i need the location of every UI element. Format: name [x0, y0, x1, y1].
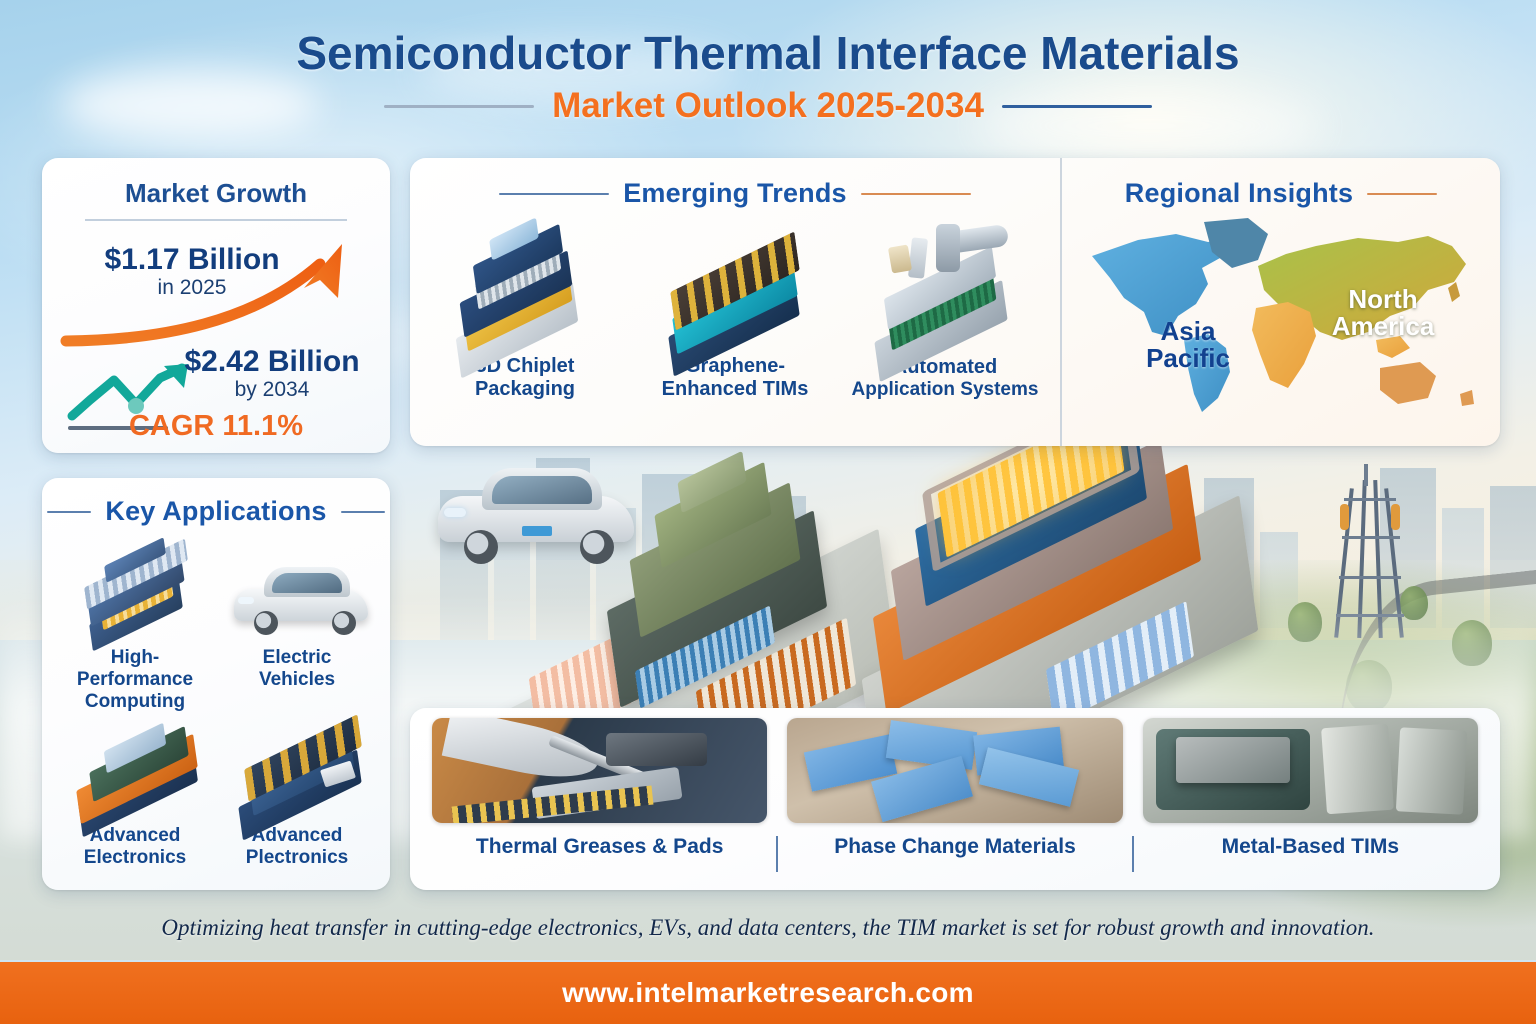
emerging-trends-list: 3D Chiplet Packaging Graphene- Enhanced … — [410, 215, 1060, 401]
product-label: Thermal Greases & Pads — [432, 835, 767, 859]
key-applications-panel: Key Applications High-Performance Comput… — [42, 478, 390, 890]
regional-insights-section: Regional Insights — [1060, 158, 1500, 446]
metal-tim-photo — [1143, 718, 1478, 823]
footer-url[interactable]: www.intelmarketresearch.com — [562, 977, 974, 1009]
footer-tagline: Optimizing heat transfer in cutting-edge… — [0, 915, 1536, 941]
application-item[interactable]: Advanced Plectronics — [218, 719, 376, 869]
application-label-line2: Electronics — [56, 847, 214, 869]
car-illustration — [430, 456, 640, 566]
emerging-trends-title: Emerging Trends — [623, 178, 847, 209]
page-subtitle: Market Outlook 2025-2034 — [552, 86, 984, 126]
subtitle-rule-left — [384, 105, 534, 108]
product-types-panel: Thermal Greases & Pads Phase Change Mate… — [410, 708, 1500, 890]
trend-label-line2: Enhanced TIMs — [640, 378, 830, 401]
region-label-asia-pacific: Asia Pacific — [1118, 318, 1258, 373]
cagr-value: CAGR 11.1% — [42, 410, 390, 443]
trend-item[interactable]: Automated Application Systems — [850, 222, 1040, 401]
product-label: Phase Change Materials — [787, 835, 1122, 859]
value-2025: $1.17 Billion — [64, 244, 320, 276]
key-applications-title: Key Applications — [105, 496, 326, 527]
value-2025-note: in 2025 — [64, 276, 320, 299]
application-label-line2: Computing — [56, 691, 214, 713]
graphene-sheet-icon — [640, 221, 830, 351]
product-label: Metal-Based TIMs — [1143, 835, 1478, 859]
rule-left — [499, 193, 609, 195]
subtitle-row: Market Outlook 2025-2034 — [0, 86, 1536, 126]
trend-label-line2: Packaging — [430, 378, 620, 401]
robot-dispenser-icon — [850, 222, 1040, 352]
application-label-line2: Plectronics — [218, 847, 376, 869]
world-map: North America Asia Pacific — [1080, 212, 1510, 422]
rule-right — [861, 193, 971, 195]
rule-left — [47, 511, 91, 513]
trends-and-regional-panel: Emerging Trends 3D Chiplet Packaging — [410, 158, 1500, 446]
application-label-line1: Advanced — [56, 825, 214, 847]
product-item[interactable]: Phase Change Materials — [777, 718, 1132, 859]
hero-chip-illustration — [430, 430, 1510, 730]
product-item[interactable]: Metal-Based TIMs — [1133, 718, 1488, 859]
market-growth-title: Market Growth — [42, 178, 390, 209]
divider — [85, 219, 347, 221]
value-2034-note: by 2034 — [154, 378, 390, 401]
application-label-line1: High-Performance — [56, 647, 214, 691]
pcb-module-icon — [56, 719, 214, 819]
value-2034: $2.42 Billion — [154, 346, 390, 378]
application-label-line1: Electric — [218, 647, 376, 669]
product-types-list: Thermal Greases & Pads Phase Change Mate… — [410, 708, 1500, 859]
regional-insights-heading: Regional Insights — [1062, 178, 1500, 209]
region-label-north-america: North America — [1308, 286, 1458, 341]
trend-label-line1: Graphene- — [640, 355, 830, 378]
subtitle-rule-right — [1002, 105, 1152, 108]
chip-stack-icon — [430, 221, 620, 351]
grease-dispenser-photo — [432, 718, 767, 823]
emerging-trends-heading: Emerging Trends — [410, 178, 1060, 209]
emerging-trends-section: Emerging Trends 3D Chiplet Packaging — [410, 158, 1060, 446]
rule-right — [341, 511, 385, 513]
server-chip-icon — [56, 545, 214, 641]
page-title: Semiconductor Thermal Interface Material… — [0, 26, 1536, 80]
application-item[interactable]: Electric Vehicles — [218, 545, 376, 713]
header: Semiconductor Thermal Interface Material… — [0, 0, 1536, 126]
regional-insights-title: Regional Insights — [1125, 178, 1353, 209]
application-item[interactable]: Advanced Electronics — [56, 719, 214, 869]
key-applications-heading: Key Applications — [42, 496, 390, 527]
trend-label-line2: Application Systems — [850, 379, 1040, 401]
product-item[interactable]: Thermal Greases & Pads — [422, 718, 777, 859]
key-applications-grid: High-Performance Computing Electric Vehi… — [42, 537, 390, 869]
footer-url-bar[interactable]: www.intelmarketresearch.com — [0, 962, 1536, 1024]
pcb-board-icon — [218, 719, 376, 819]
trend-item[interactable]: Graphene- Enhanced TIMs — [640, 221, 830, 401]
application-label-line2: Vehicles — [218, 669, 376, 691]
rule-right — [1367, 193, 1437, 195]
market-growth-panel: Market Growth $1.17 Billion in 2025 $2.4… — [42, 158, 390, 453]
application-item[interactable]: High-Performance Computing — [56, 545, 214, 713]
blue-pcm-pads-photo — [787, 718, 1122, 823]
car-icon — [218, 545, 376, 641]
trend-item[interactable]: 3D Chiplet Packaging — [430, 221, 620, 401]
